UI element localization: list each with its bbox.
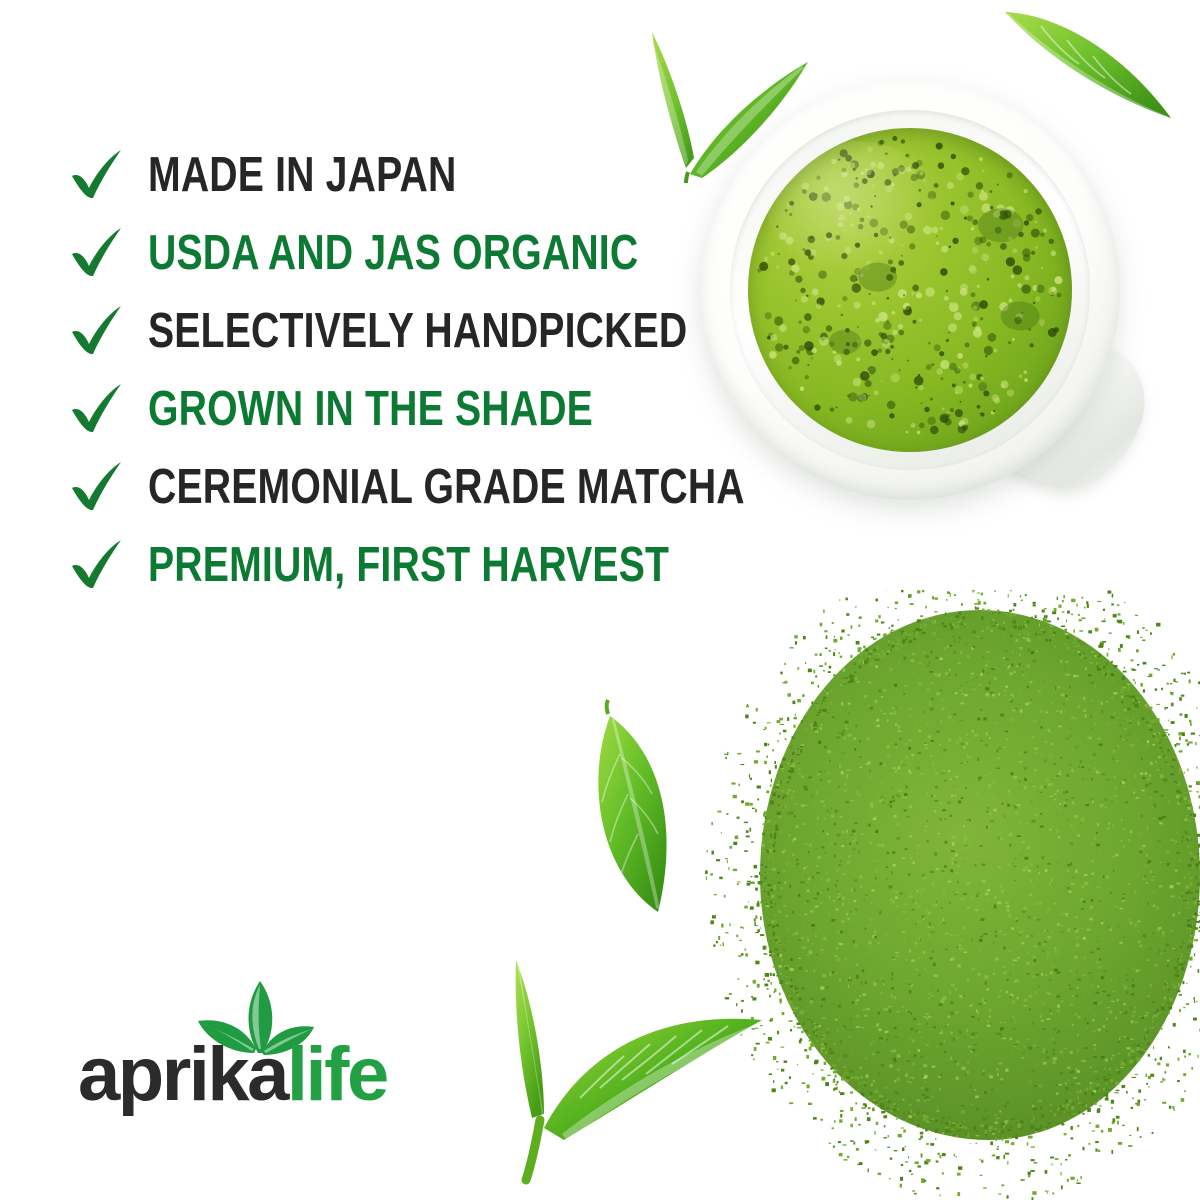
feature-item: GROWN IN THE SHADE — [68, 370, 768, 448]
feature-item: CEREMONIAL GRADE MATCHA — [68, 448, 768, 526]
brand-logo: aprikalife — [78, 975, 378, 1120]
feature-item: PREMIUM, FIRST HARVEST — [68, 526, 768, 604]
check-icon — [68, 302, 126, 360]
check-icon — [68, 458, 126, 516]
check-icon — [68, 146, 126, 204]
check-icon — [68, 380, 126, 438]
feature-label: MADE IN JAPAN — [148, 151, 456, 200]
logo-text-aprika: aprika — [78, 1032, 287, 1117]
feature-label: CEREMONIAL GRADE MATCHA — [148, 463, 745, 512]
feature-list: MADE IN JAPANUSDA AND JAS ORGANICSELECTI… — [68, 136, 768, 604]
feature-item: SELECTIVELY HANDPICKED — [68, 292, 768, 370]
feature-item: MADE IN JAPAN — [68, 136, 768, 214]
feature-label: GROWN IN THE SHADE — [148, 385, 593, 434]
feature-label: USDA AND JAS ORGANIC — [148, 229, 638, 278]
feature-item: USDA AND JAS ORGANIC — [68, 214, 768, 292]
logo-wordmark: aprikalife — [78, 1037, 387, 1113]
tea-leaf-sprig-bottom-icon — [470, 928, 790, 1183]
check-icon — [68, 224, 126, 282]
logo-text-life: life — [287, 1032, 387, 1117]
tea-leaf-top-right-icon — [995, 0, 1200, 134]
feature-label: PREMIUM, FIRST HARVEST — [148, 541, 669, 590]
feature-label: SELECTIVELY HANDPICKED — [148, 307, 687, 356]
product-infographic: MADE IN JAPANUSDA AND JAS ORGANICSELECTI… — [0, 0, 1200, 1200]
check-icon — [68, 536, 126, 594]
tea-leaf-middle-icon — [562, 698, 772, 928]
